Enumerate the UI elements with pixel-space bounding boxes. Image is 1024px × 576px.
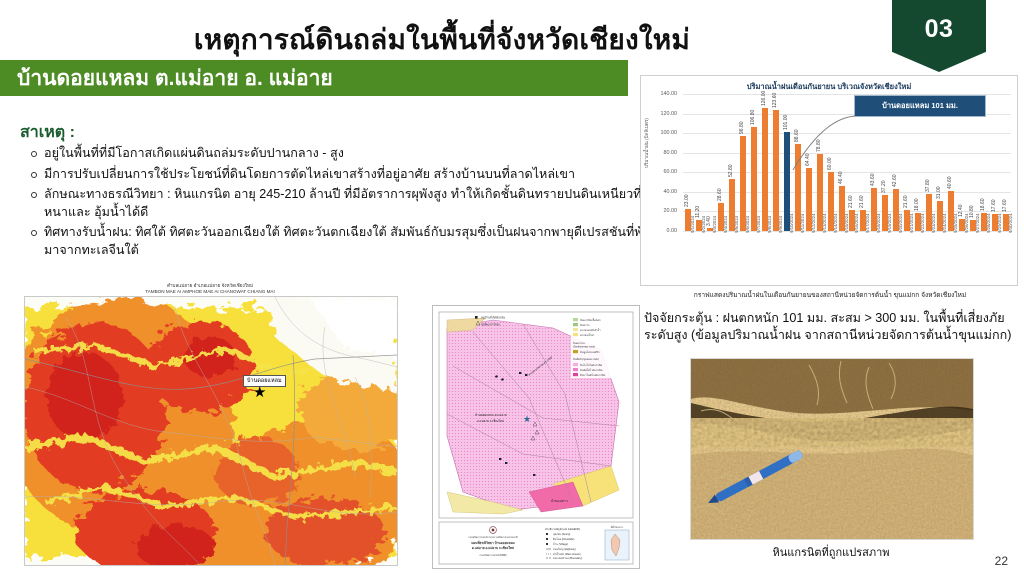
svg-text:ตะกอนน้ำพา: ตะกอนน้ำพา (580, 333, 595, 337)
chart-bar-value: 52.80 (728, 165, 734, 178)
chart-x-tick: 9/1/2024 (690, 216, 695, 233)
terrain-raster (25, 297, 397, 565)
svg-text:ขอบเขตตำบล (Boundary): ขอบเขตตำบล (Boundary) (553, 556, 582, 560)
chart-bar-value: 10.80 (969, 206, 975, 219)
chart-x-tick: 9/6/2024 (745, 216, 750, 233)
weathered-granite-photo (690, 358, 974, 540)
chart-x-tick: 9/10/2024 (789, 213, 794, 233)
chart-bar-value: 37.80 (925, 180, 931, 193)
chart-x-tick: 9/19/2024 (887, 213, 892, 233)
photo-caption: หินแกรนิตที่ถูกแปรสภาพ (690, 543, 972, 561)
chart-x-tick: 9/8/2024 (767, 216, 772, 233)
chart-bar-value: 42.60 (892, 175, 898, 188)
chart-x-tick: 9/15/2024 (844, 213, 849, 233)
chart-bar-value: 23.00 (684, 194, 690, 207)
chart-x-tick: 9/5/2024 (734, 216, 739, 233)
chart-bar-value: 21.60 (903, 195, 909, 208)
chart-y-tick: 60.00 (647, 169, 677, 175)
chart-x-tick: 9/30/2024 (1008, 213, 1013, 233)
chart-x-tick: 9/9/2024 (778, 216, 783, 233)
chart-bar-value: 21.60 (848, 195, 854, 208)
callout-leader-line (791, 114, 871, 174)
svg-text:★: ★ (523, 414, 531, 424)
svg-text:แผนที่ธรณีวิทยา บ้านดอยแหลม: แผนที่ธรณีวิทยา บ้านดอยแหลม (471, 540, 514, 545)
rainfall-chart: ปริมาณน้ำฝนเดือนกันยายน บริเวณจังหวัดเชี… (640, 75, 1018, 286)
svg-text:บ้านแม่สาว: บ้านแม่สาว (551, 499, 568, 503)
list-item: ลักษณะทางธรณีวิทยา : หินแกรนิต อายุ 245-… (44, 186, 656, 221)
subtitle-text: บ้านดอยแหลม ต.แม่อาย อ. แม่อาย (17, 62, 333, 95)
chart-bar-value: 17.60 (1002, 199, 1008, 212)
chart-x-tick: 9/23/2024 (931, 213, 936, 233)
chart-annotation-callout: บ้านดอยแหลม 101 มม. (854, 95, 986, 117)
svg-text:หินแกรนิตเนื้อดอก: หินแกรนิตเนื้อดอก (580, 318, 601, 322)
chart-x-tick: 9/21/2024 (909, 213, 914, 233)
chart-x-tick: 9/7/2024 (756, 216, 761, 233)
landslide-susceptibility-map: บ้านดอยแหลม ★ (24, 296, 398, 566)
causes-heading: สาเหตุ : (20, 120, 75, 145)
chart-bar (762, 108, 768, 231)
chart-y-tick: 100.00 (647, 130, 677, 136)
svg-text:หินตะกอน: หินตะกอน (573, 341, 585, 345)
svg-text:หินมัสโคไวต์แกรนิต: หินมัสโคไวต์แกรนิต (580, 368, 603, 372)
chart-x-tick: 9/3/2024 (712, 216, 717, 233)
svg-text:คำอธิบายสัญลักษณ์ (LEGEND): คำอธิบายสัญลักษณ์ (LEGEND) (545, 527, 580, 531)
chart-bar-value: 106.80 (750, 109, 756, 124)
chart-y-tick: 40.00 (647, 189, 677, 195)
chart-annotation-text: บ้านดอยแหลม 101 มม. (882, 100, 958, 112)
chart-x-tick: 9/24/2024 (942, 213, 947, 233)
chart-bar-value: 17.60 (991, 199, 997, 212)
svg-text:มิกมาไทต์/ไนส์/แกรนิต: มิกมาไทต์/ไนส์/แกรนิต (580, 373, 606, 377)
svg-text:(Sedimentary rock): (Sedimentary rock) (573, 345, 595, 349)
chart-bar-value: 28.60 (717, 189, 723, 202)
trigger-factor-text: ปัจจัยกระตุ้น : ฝนตกหนัก 101 มม. สะสม > … (644, 310, 1020, 344)
chart-y-tick: 120.00 (647, 111, 677, 117)
slide-number-badge: 03 (892, 0, 986, 72)
svg-text:หินอัคนี (Igneous rock): หินอัคนี (Igneous rock) (573, 357, 599, 361)
svg-text:กรมทรัพยากรธรณี (DMR): กรมทรัพยากรธรณี (DMR) (480, 553, 507, 557)
geology-map-graphic: หินแกรนิตเนื้อดอก หินทราย ตะกอนตะพักลำน้… (433, 306, 639, 568)
chart-bar-value: 18.00 (914, 199, 920, 212)
chart-x-tick: 9/27/2024 (975, 213, 980, 233)
chart-x-tick: 9/28/2024 (986, 213, 991, 233)
svg-text:อ.แม่อาย จ.เชียงใหม่: อ.แม่อาย จ.เชียงใหม่ (477, 419, 504, 423)
chart-bar-value: 96.80 (739, 122, 745, 135)
chart-x-tick: 9/4/2024 (723, 216, 728, 233)
chart-x-tick: 9/12/2024 (811, 213, 816, 233)
map-left-header: ตำบลแม่อาย อำเภอแม่อาย จังหวัดเชียงใหม่ … (24, 283, 396, 295)
chart-y-tick: 80.00 (647, 150, 677, 156)
chart-x-tick: 9/11/2024 (800, 214, 805, 233)
chart-bar-value: 37.20 (881, 180, 887, 193)
svg-text:หินปูนไทรแอสซิก: หินปูนไทรแอสซิก (580, 350, 600, 354)
chart-bar-value: 123.60 (772, 93, 778, 108)
chart-bar-value: 18.60 (980, 198, 986, 211)
map-left-location-star: ★ (253, 385, 266, 400)
svg-text:หินไบโอไทต์แกรนิต: หินไบโอไทต์แกรนิต (580, 363, 603, 367)
svg-text:หินทราย: หินทราย (580, 323, 590, 327)
svg-text:ลำน้ำหลัก (Main stream): ลำน้ำหลัก (Main stream) (553, 552, 581, 556)
chart-bar-value: 31.00 (936, 186, 942, 199)
svg-text:หมู่บ้านที่เกิดดินถล่ม: หมู่บ้านที่เกิดดินถล่ม (481, 316, 505, 320)
chart-x-tick: 9/14/2024 (833, 213, 838, 233)
chart-x-tick: 9/17/2024 (865, 213, 870, 233)
subtitle-band: บ้านดอยแหลม ต.แม่อาย อ. แม่อาย (0, 60, 628, 96)
svg-text:บ้านดอยแหลม ต.แม่อาย: บ้านดอยแหลม ต.แม่อาย (475, 413, 507, 417)
chart-y-tick: 0.00 (647, 228, 677, 234)
chart-bar-value: 21.60 (859, 195, 865, 208)
chart-bar-value: 101.00 (783, 115, 789, 130)
slide-number-text: 03 (925, 17, 954, 42)
chart-x-tick: 9/18/2024 (876, 213, 881, 233)
chart-y-tick: 140.00 (647, 91, 677, 97)
svg-text:ดินไหล (Flowslide): ดินไหล (Flowslide) (553, 537, 575, 541)
map-left-header-roman: TAMBON MAE AI AMPHOE MAE AI CHANGWAT CHI… (24, 289, 396, 295)
page-number: 22 (995, 554, 1008, 568)
chart-x-tick: 9/13/2024 (822, 213, 827, 233)
page-title: เหตุการณ์ดินถล่มในพื้นที่จังหวัดเชียงใหม… (0, 18, 884, 62)
chart-bar-value: 40.60 (947, 177, 953, 190)
svg-text:กรมทรัพยากรธรณี กระทรวงทรัพยาก: กรมทรัพยากรธรณี กระทรวงทรัพยากรธรรมชาติ (468, 535, 518, 539)
chart-bar (773, 110, 779, 231)
geology-map: หินแกรนิตเนื้อดอก หินทราย ตะกอนตะพักลำน้… (432, 305, 640, 569)
svg-text:บ้าน (Village): บ้าน (Village) (553, 542, 569, 546)
chart-x-tick: 9/22/2024 (920, 213, 925, 233)
chart-x-tick: 9/16/2024 (854, 213, 859, 233)
chart-caption: กราฟแสดงปริมาณน้ำฝนในเดือนกันยายนของสถาน… (640, 289, 1020, 300)
photo-graphic (691, 359, 973, 539)
chart-y-tick: 20.00 (647, 208, 677, 214)
chart-bar-value: 43.60 (870, 174, 876, 187)
chart-x-tick: 9/20/2024 (898, 213, 903, 233)
chart-bar-value: 126.00 (761, 90, 767, 105)
list-item: มีการปรับเปลี่ยนการใช้ประโยชน์ที่ดินโดยก… (44, 166, 656, 184)
chart-bar-value: 12.40 (958, 204, 964, 217)
svg-text:ถนนใหญ่ (Highway): ถนนใหญ่ (Highway) (553, 547, 576, 551)
causes-list: อยู่ในพื้นที่ที่มีโอกาสเกิดแผ่นดินถล่มระ… (26, 145, 656, 262)
list-item: ทิศทางรับน้ำฝน: ทิศใต้ ทิศตะวันออกเฉียงใ… (44, 224, 656, 259)
svg-text:ต.แม่อาย อ.แม่อาย จ.เชียงใหม่: ต.แม่อาย อ.แม่อาย จ.เชียงใหม่ (472, 545, 514, 550)
list-item: อยู่ในพื้นที่ที่มีโอกาสเกิดแผ่นดินถล่มระ… (44, 145, 656, 163)
chart-x-tick: 9/29/2024 (997, 213, 1002, 233)
svg-text:ตะกอนตะพักลำน้ำ: ตะกอนตะพักลำน้ำ (580, 328, 601, 332)
